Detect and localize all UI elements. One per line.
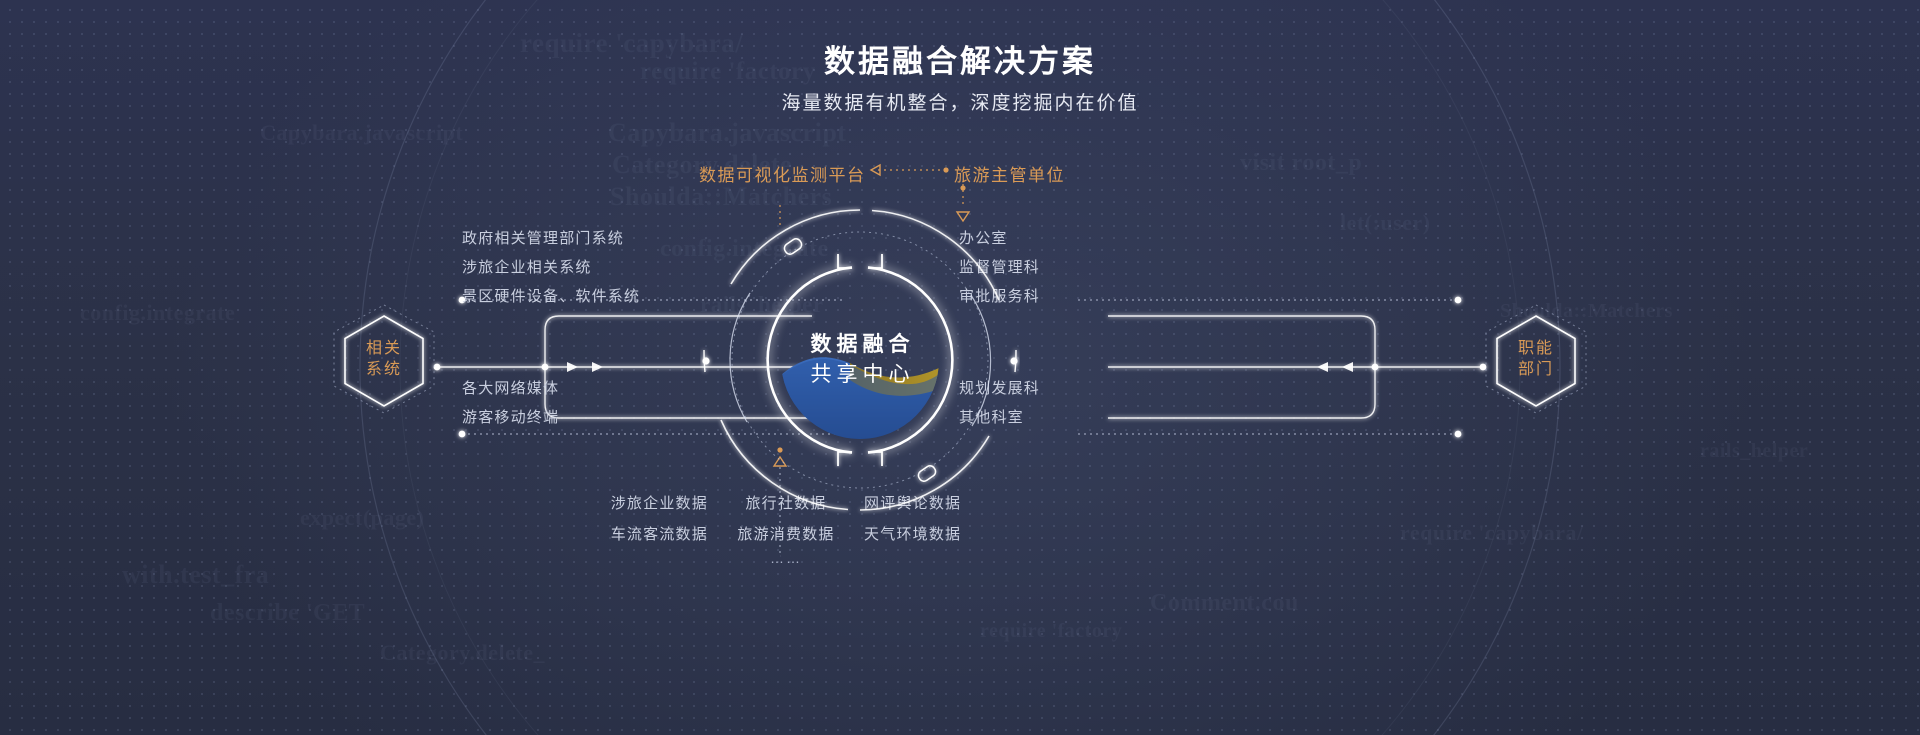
background-code-text: with.test_fra [122,560,269,590]
data-item: 天气环境数据 [849,523,976,546]
background-code-text: Capybara.javascript [608,118,846,148]
gap-bracket-bottom-left [838,452,852,466]
page-title: 数据融合解决方案 [0,36,1920,81]
background-code-text: describe 'GET [210,600,365,627]
outer-ring-arc-bottom-right [860,436,989,510]
background-code-text: config.integrate [80,300,235,326]
ring-port-right [1010,357,1017,364]
node-label: 相关 系统 [331,303,437,415]
list-item: 涉旅企业相关系统 [462,253,640,282]
infographic-canvas: require 'capybara/require 'factoryCapyba… [0,0,1920,735]
node-label-line2: 部门 [1518,359,1554,380]
gap-bracket-bottom-right [868,452,882,466]
core-wave-blue-2 [781,359,939,450]
core-hub[interactable]: 数据融合 共享中心 [700,200,1020,520]
node-label-line1: 相关 [366,338,402,359]
background-code-text: rails_helper [1700,440,1808,463]
ring-port-left [702,357,709,364]
outer-ring-arc-top-left [731,210,860,284]
list-item: 政府相关管理部门系统 [462,224,640,253]
background-code-text: Capybara.javascript [260,120,463,146]
gap-bracket-top-right [868,254,882,268]
outer-ring-arc-bottom-left [721,420,848,510]
background-code-text: expect(page) [300,505,425,531]
node-related-systems[interactable]: 相关 系统 [331,303,437,415]
node-label-line2: 系统 [366,359,402,380]
background-code-text: require 'factory [980,620,1122,643]
list-item: 各大网络媒体 [462,374,559,403]
outer-ring-arc-top-right [872,211,999,301]
label-tourism-authority[interactable]: 旅游主管单位 [954,161,1065,186]
ellipsis-more: …… [596,550,976,566]
background-code-text: visit root_p [1240,150,1362,177]
background-code-text: Comment.cou [1150,590,1299,617]
background-code-text: let(:user) [1340,210,1431,236]
gap-bracket-top-left [838,254,852,268]
thin-ring-arc-left [730,293,750,422]
node-functional-departments[interactable]: 职能 部门 [1483,303,1589,415]
label-visualization-platform[interactable]: 数据可视化监测平台 [699,161,866,186]
data-item: 车流客流数据 [596,523,723,546]
background-code-text: require 'capybara/ [1400,520,1584,546]
left-sources-bottom: 各大网络媒体 游客移动终端 [462,374,559,432]
list-item: 景区硬件设备、软件系统 [462,282,640,311]
background-code-text: Category.delete_ [380,640,545,666]
data-item: 旅游消费数据 [723,523,850,546]
left-sources-top: 政府相关管理部门系统 涉旅企业相关系统 景区硬件设备、软件系统 [462,224,640,311]
node-label-line1: 职能 [1518,338,1554,359]
page-subtitle: 海量数据有机整合，深度挖掘内在价值 [0,88,1920,115]
middle-dotted-ring [732,232,988,488]
node-label: 职能 部门 [1483,303,1589,415]
list-item: 游客移动终端 [462,403,559,432]
